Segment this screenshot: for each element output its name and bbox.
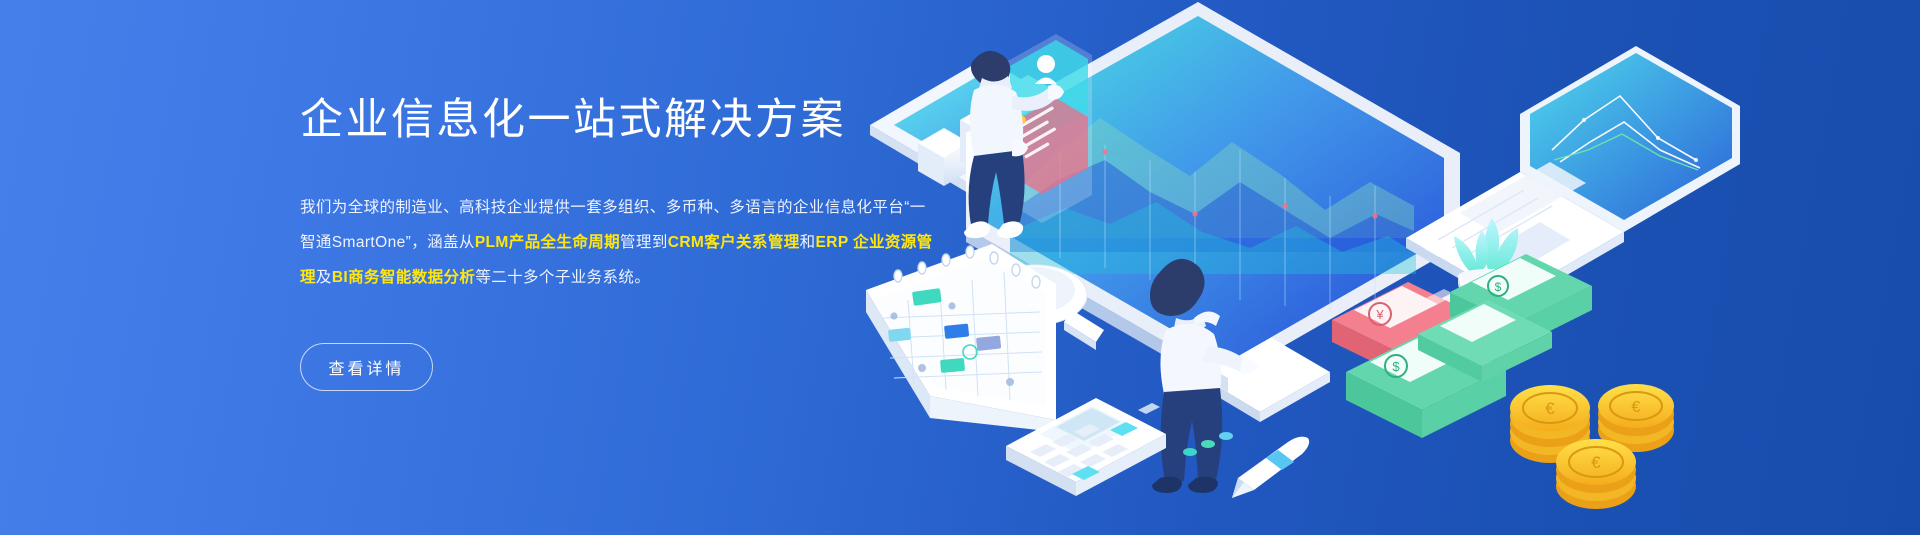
gold-coins: € € € <box>1510 384 1674 509</box>
isometric-illustration: ¥ $ $ <box>860 0 1920 535</box>
desc-highlight-plm: PLM产品全生命周期 <box>475 234 620 251</box>
svg-text:€: € <box>1632 399 1641 416</box>
desc-segment-4: 及 <box>316 269 332 286</box>
coin-stack-front: € <box>1556 439 1636 509</box>
svg-text:€: € <box>1591 453 1601 472</box>
svg-text:¥: ¥ <box>1375 307 1384 322</box>
hero-banner: 企业信息化一站式解决方案 我们为全球的制造业、高科技企业提供一套多组织、多币种、… <box>0 0 1920 535</box>
desc-highlight-bi: BI商务智能数据分析 <box>332 269 476 286</box>
hero-description: 我们为全球的制造业、高科技企业提供一套多组织、多币种、多语言的企业信息化平台“一… <box>300 190 940 295</box>
pen <box>1232 437 1309 498</box>
desc-segment-5: 等二十多个子业务系统。 <box>475 269 650 286</box>
desc-highlight-crm: CRM客户关系管理 <box>668 234 800 251</box>
desk-calendar <box>866 244 1056 432</box>
svg-text:$: $ <box>1392 359 1400 374</box>
desc-segment-2: 管理到 <box>620 234 668 251</box>
desc-segment-3: 和 <box>800 234 816 251</box>
svg-text:$: $ <box>1495 280 1502 294</box>
svg-text:€: € <box>1545 399 1555 418</box>
view-details-button[interactable]: 查看详情 <box>300 343 433 391</box>
